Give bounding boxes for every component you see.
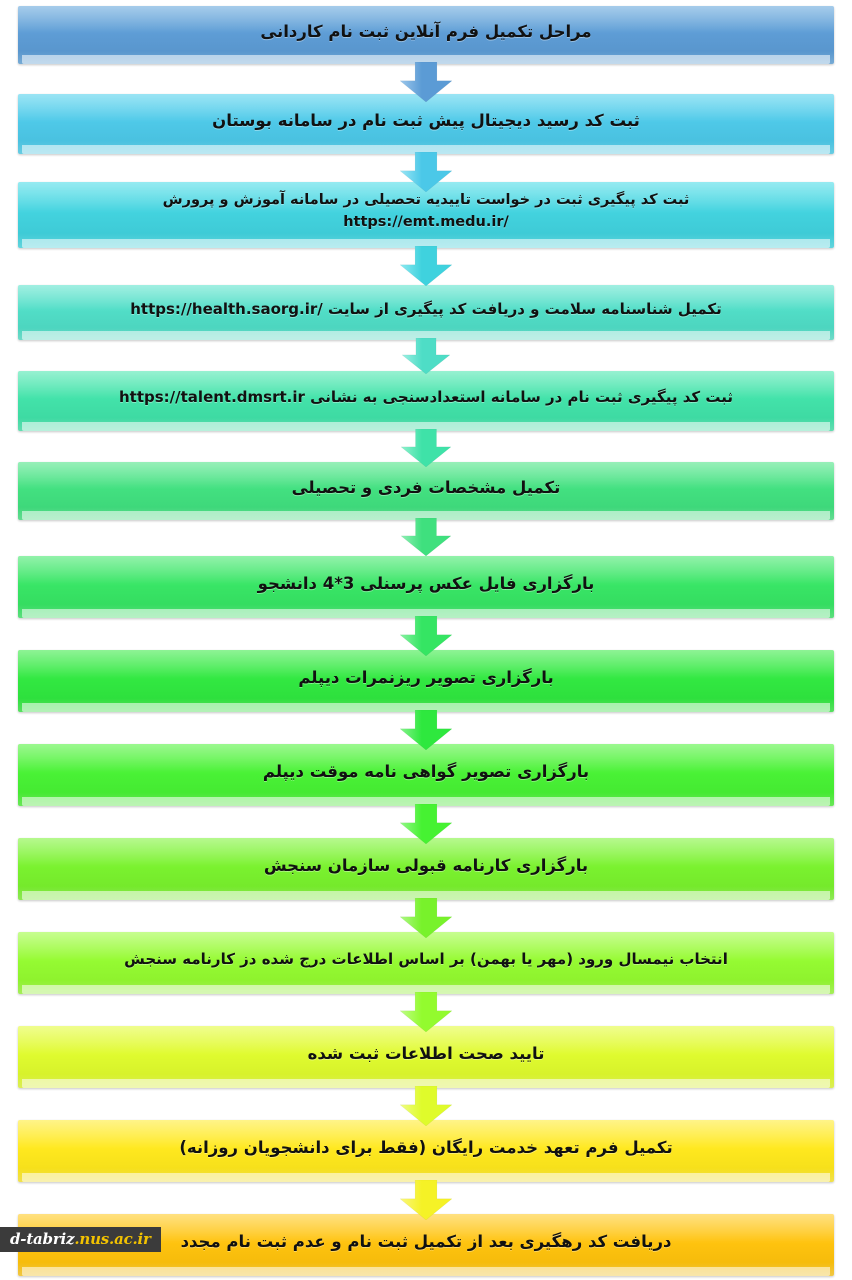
flow-step-label: دریافت کد رهگیری بعد از تکمیل ثبت نام و … [155, 1230, 698, 1260]
flow-step-banner: بارگزاری کارنامه قبولی سازمان سنجش [18, 838, 834, 900]
flow-arrow-down-icon-2 [400, 152, 452, 192]
flow-step-1: مراحل تکمیل فرم آنلاین ثبت نام کاردانی [18, 6, 834, 64]
flow-step-label: ثبت کد رسید دیجیتال پیش ثبت نام در سامان… [186, 109, 666, 139]
flow-step-7: بارگزاری فایل عکس پرسنلی 3*4 دانشجو [18, 556, 834, 618]
flow-step-banner: ثبت کد رسید دیجیتال پیش ثبت نام در سامان… [18, 94, 834, 154]
flow-step-9: بارگزاری تصویر گواهی نامه موقت دیپلم [18, 744, 834, 806]
flow-step-11: انتخاب نیمسال ورود (مهر یا بهمن) بر اساس… [18, 932, 834, 994]
flow-arrow-down-icon-9 [400, 804, 452, 844]
flow-step-12: تایید صحت اطلاعات ثبت شده [18, 1026, 834, 1088]
flow-step-label: تایید صحت اطلاعات ثبت شده [282, 1042, 571, 1072]
flow-step-banner: ثبت کد پیگیری ثبت نام در سامانه استعدادس… [18, 371, 834, 431]
flow-step-label: تکمیل فرم تعهد خدمت رایگان (فقط برای دان… [153, 1136, 698, 1166]
flow-step-label: تکمیل شناسنامه سلامت و دریافت کد پیگیری … [104, 299, 748, 327]
flow-step-banner: بارگزاری تصویر ریزنمرات دیپلم [18, 650, 834, 712]
flow-step-banner: تکمیل فرم تعهد خدمت رایگان (فقط برای دان… [18, 1120, 834, 1182]
flow-arrow-down-icon-7 [400, 616, 452, 656]
flow-step-label: ثبت کد پیگیری ثبت نام در سامانه استعدادس… [93, 387, 759, 415]
flow-arrow-down-icon-1 [400, 62, 452, 102]
flow-step-banner: بارگزاری تصویر گواهی نامه موقت دیپلم [18, 744, 834, 806]
flow-arrow-down-icon-5 [401, 429, 451, 467]
flow-step-10: بارگزاری کارنامه قبولی سازمان سنجش [18, 838, 834, 900]
flow-step-banner: بارگزاری فایل عکس پرسنلی 3*4 دانشجو [18, 556, 834, 618]
flow-step-5: ثبت کد پیگیری ثبت نام در سامانه استعدادس… [18, 371, 834, 431]
flow-step-label: بارگزاری تصویر ریزنمرات دیپلم [272, 666, 579, 696]
watermark-site-name: d-tabriz [10, 1230, 74, 1248]
flow-arrow-down-icon-12 [400, 1086, 452, 1126]
flow-arrow-down-icon-6 [401, 518, 451, 556]
flow-arrow-down-icon-13 [400, 1180, 452, 1220]
flow-step-label: مراحل تکمیل فرم آنلاین ثبت نام کاردانی [234, 20, 617, 50]
watermark: d-tabriz.nus.ac.ir [0, 1227, 161, 1252]
flow-arrow-down-icon-8 [400, 710, 452, 750]
watermark-site-suffix: .nus.ac.ir [74, 1230, 150, 1248]
flow-step-13: تکمیل فرم تعهد خدمت رایگان (فقط برای دان… [18, 1120, 834, 1182]
flow-step-banner: انتخاب نیمسال ورود (مهر یا بهمن) بر اساس… [18, 932, 834, 994]
flow-step-banner: تکمیل شناسنامه سلامت و دریافت کد پیگیری … [18, 285, 834, 340]
flow-step-label: بارگزاری کارنامه قبولی سازمان سنجش [238, 854, 614, 884]
flow-step-banner: تکمیل مشخصات فردی و تحصیلی [18, 462, 834, 520]
flow-arrow-down-icon-3 [400, 246, 452, 286]
flow-step-label: تکمیل مشخصات فردی و تحصیلی [266, 476, 587, 506]
flow-arrow-down-icon-4 [402, 338, 450, 374]
flow-step-2: ثبت کد رسید دیجیتال پیش ثبت نام در سامان… [18, 94, 834, 154]
flowchart-container: مراحل تکمیل فرم آنلاین ثبت نام کاردانیثب… [0, 0, 852, 1280]
flow-step-label: انتخاب نیمسال ورود (مهر یا بهمن) بر اساس… [98, 949, 754, 977]
flow-step-banner: تایید صحت اطلاعات ثبت شده [18, 1026, 834, 1088]
flow-step-6: تکمیل مشخصات فردی و تحصیلی [18, 462, 834, 520]
flow-step-banner: مراحل تکمیل فرم آنلاین ثبت نام کاردانی [18, 6, 834, 64]
flow-step-8: بارگزاری تصویر ریزنمرات دیپلم [18, 650, 834, 712]
flow-step-label: بارگزاری تصویر گواهی نامه موقت دیپلم [237, 760, 615, 790]
flow-arrow-down-icon-10 [400, 898, 452, 938]
flow-step-label: بارگزاری فایل عکس پرسنلی 3*4 دانشجو [232, 572, 621, 602]
flow-step-4: تکمیل شناسنامه سلامت و دریافت کد پیگیری … [18, 285, 834, 340]
flow-step-label: ثبت کد پیگیری ثبت در خواست تاییدیه تحصیل… [137, 190, 716, 240]
flow-arrow-down-icon-11 [400, 992, 452, 1032]
